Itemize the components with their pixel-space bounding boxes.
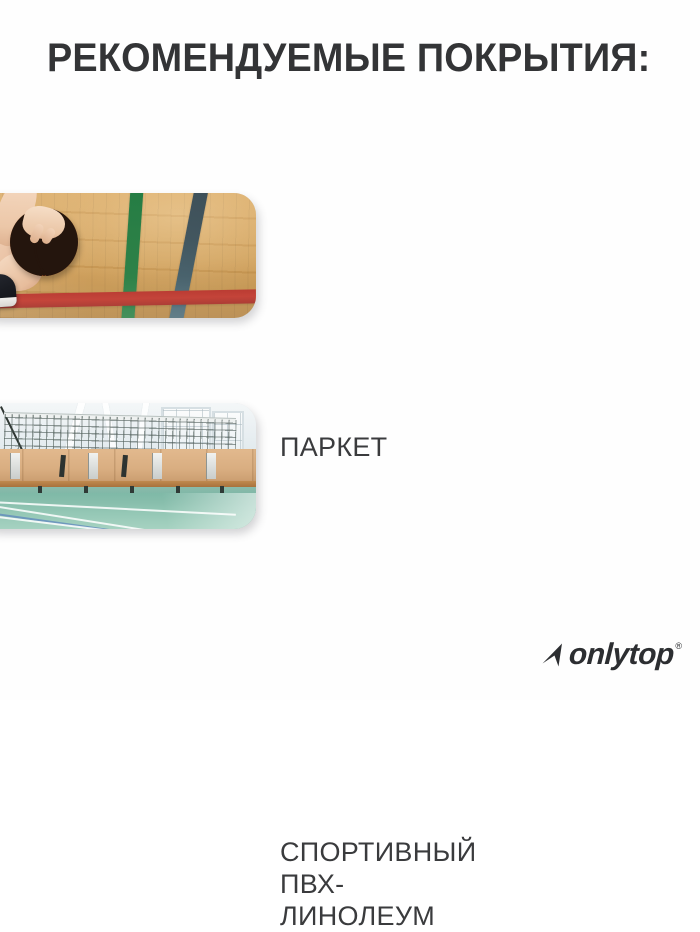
brand-logo: onlytop ® — [541, 638, 682, 672]
wall-slat — [152, 453, 162, 479]
coverage-label-pvc-linoleum: СПОРТИВНЫЙ ПВХ-ЛИНОЛЕУМ — [280, 836, 476, 932]
onlytop-arrow-mark — [541, 642, 571, 668]
slide-root: РЕКОМЕНДУЕМЫЕ ПОКРЫТИЯ: — [0, 0, 700, 700]
parquet-gym-floor-with-basketball-image — [0, 193, 256, 318]
coverage-label-parquet: ПАРКЕТ — [280, 431, 387, 463]
wall-slat — [206, 453, 216, 479]
wall-slat — [88, 453, 98, 479]
registered-trademark-icon: ® — [675, 642, 682, 651]
wall-slat — [10, 453, 20, 479]
sports-hall-pvc-linoleum-floor-image — [0, 403, 256, 529]
parquet-photo-card — [0, 193, 256, 318]
pvc-linoleum-photo-card — [0, 403, 256, 529]
logo-wordmark: onlytop — [568, 640, 674, 670]
floor-reflection — [136, 493, 256, 529]
page-title: РЕКОМЕНДУЕМЫЕ ПОКРЫТИЯ: — [47, 36, 650, 80]
floor-gloss — [0, 276, 256, 318]
